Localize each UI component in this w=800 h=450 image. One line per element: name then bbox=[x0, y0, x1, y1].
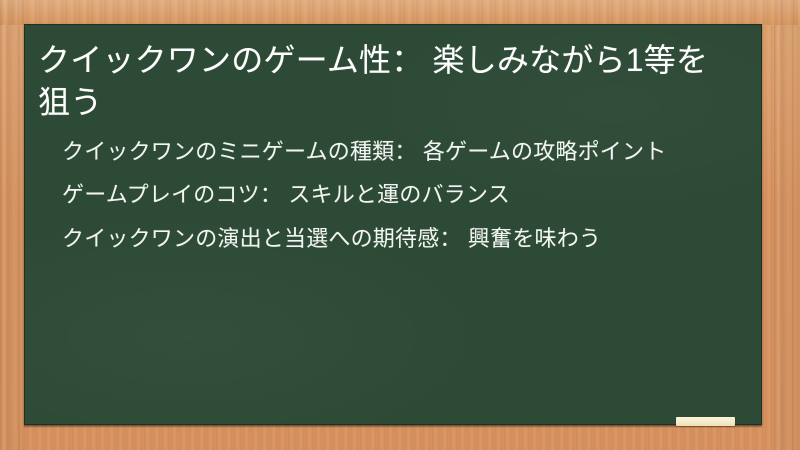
board-title: クイックワンのゲーム性： 楽しみながら1等を狙う bbox=[38, 40, 732, 123]
list-item: クイックワンの演出と当選への期待感： 興奮を味わう bbox=[62, 224, 732, 253]
chalkboard-content: クイックワンのゲーム性： 楽しみながら1等を狙う クイックワンのミニゲームの種類… bbox=[24, 24, 762, 425]
chalk-stick-icon bbox=[676, 417, 735, 426]
frame-rail-top-grain bbox=[0, 0, 800, 25]
list-item: クイックワンのミニゲームの種類： 各ゲームの攻略ポイント bbox=[62, 137, 732, 166]
frame-rail-right bbox=[774, 0, 800, 450]
chalkboard-surface: クイックワンのゲーム性： 楽しみながら1等を狙う クイックワンのミニゲームの種類… bbox=[24, 24, 762, 425]
list-item: ゲームプレイのコツ： スキルと運のバランス bbox=[62, 180, 732, 209]
frame-rail-left bbox=[0, 0, 26, 450]
board-ledge-shadow bbox=[24, 425, 762, 428]
chalkboard-wooden-frame: クイックワンのゲーム性： 楽しみながら1等を狙う クイックワンのミニゲームの種類… bbox=[0, 0, 800, 450]
topic-list: クイックワンのミニゲームの種類： 各ゲームの攻略ポイント ゲームプレイのコツ： … bbox=[38, 137, 732, 253]
